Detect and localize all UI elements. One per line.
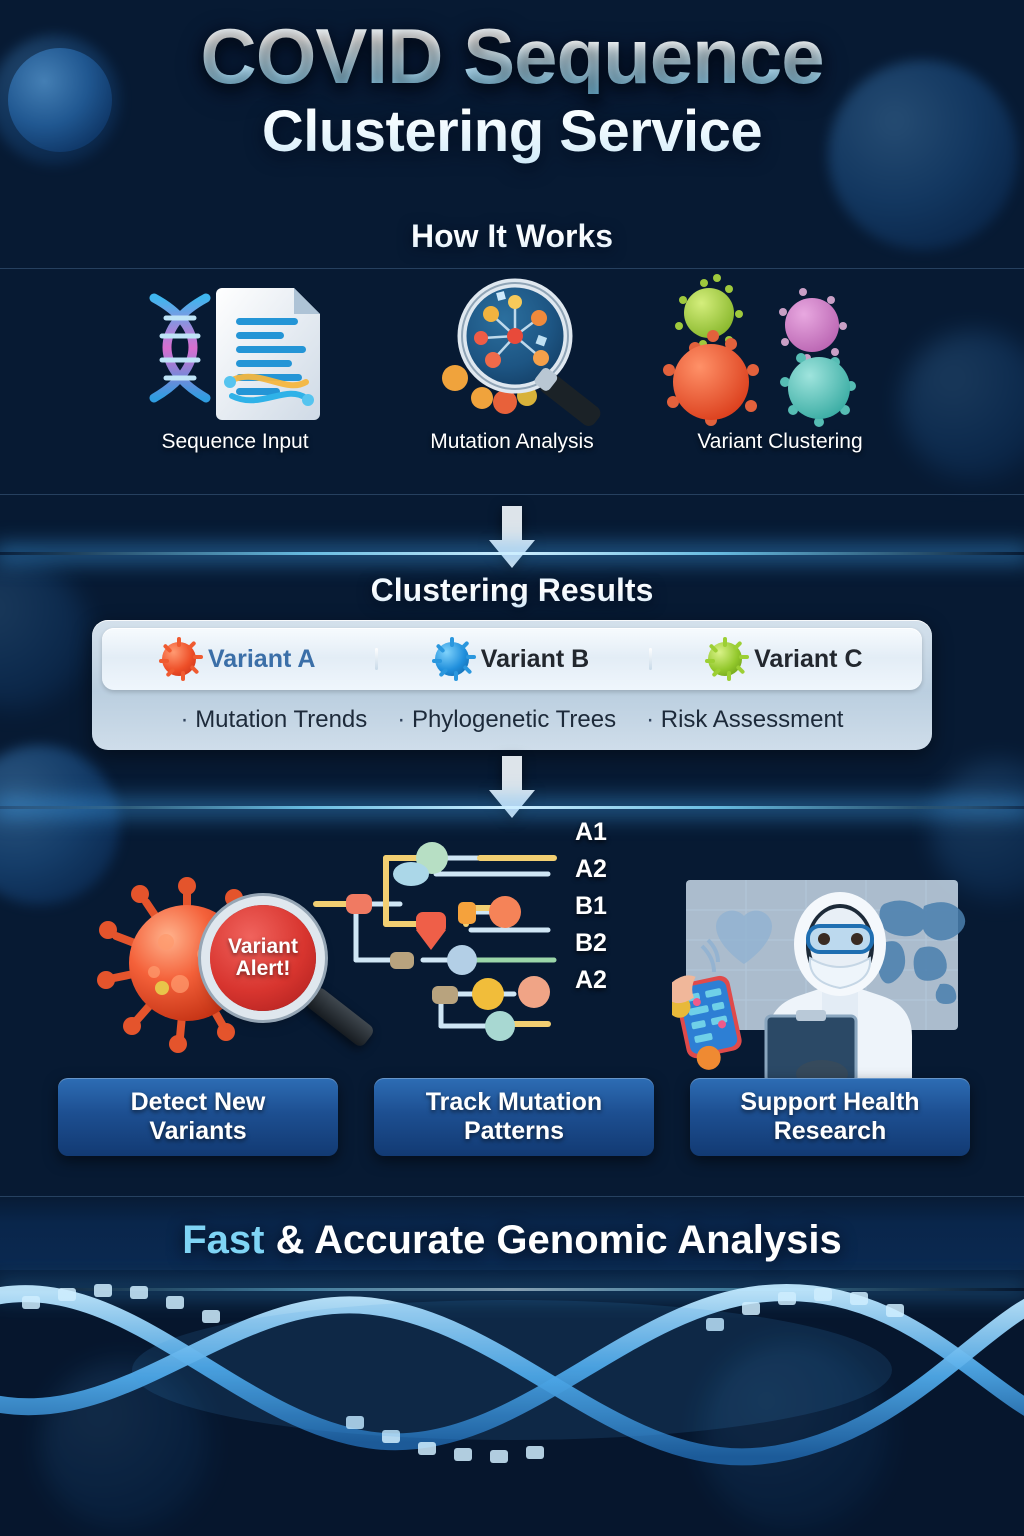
magnifier-molecule-icon (387, 270, 637, 430)
variant-tab-b[interactable]: Variant B (375, 642, 648, 676)
feature-risk-assessment[interactable]: · Risk Assessment (646, 706, 843, 734)
feature-label: Mutation Trends (195, 706, 367, 733)
feature-bullet-row: · Mutation Trends · Phylogenetic Trees ·… (92, 694, 932, 746)
step-label: Variant Clustering (655, 430, 905, 454)
card-line2: Patterns (464, 1117, 564, 1145)
alert-line2: Alert! (236, 958, 291, 980)
benefit-card-detect-new-variants[interactable]: Detect New Variants (58, 1078, 338, 1156)
feature-label: Risk Assessment (661, 706, 844, 733)
step-label: Mutation Analysis (387, 430, 637, 454)
variant-label: Variant B (481, 645, 589, 674)
variant-label: Variant A (208, 645, 315, 674)
benefit-card-track-mutation-patterns[interactable]: Track Mutation Patterns (374, 1078, 654, 1156)
feature-label: Phylogenetic Trees (412, 706, 616, 733)
virus-red-icon (162, 642, 196, 676)
benefit-card-row: Detect New Variants Track Mutation Patte… (58, 1078, 970, 1156)
virus-green-icon (708, 642, 742, 676)
dna-document-icon (110, 270, 360, 430)
page-title: COVID Sequence (0, 18, 1024, 94)
card-line1: Track Mutation (426, 1088, 602, 1116)
section-heading-clustering-results: Clustering Results (0, 572, 1024, 609)
how-it-works-steps: Sequence Input (0, 270, 1024, 500)
bullet-dot-icon: · (397, 706, 405, 733)
card-line2: Variants (149, 1117, 246, 1145)
arrow-down-icon (489, 506, 535, 568)
page-subtitle: Clustering Service (0, 98, 1024, 165)
tree-label: A1 (575, 818, 695, 855)
bullet-dot-icon: · (181, 706, 189, 733)
poster-canvas: COVID Sequence Clustering Service How It… (0, 0, 1024, 1536)
footer-highlight: Fast (182, 1218, 264, 1262)
variant-tab-c[interactable]: Variant C (649, 642, 922, 676)
variant-label: Variant C (754, 645, 862, 674)
step-label: Sequence Input (110, 430, 360, 454)
bullet-dot-icon: · (646, 706, 654, 733)
step-mutation-analysis[interactable]: Mutation Analysis (387, 270, 637, 454)
card-line1: Support Health (740, 1088, 919, 1116)
scientist-ppe-clipboard-icon (672, 866, 972, 1088)
clustering-results-panel: Variant A Variant B (92, 620, 932, 750)
card-line2: Research (774, 1117, 887, 1145)
step-sequence-input[interactable]: Sequence Input (110, 270, 360, 454)
footer-rest: & Accurate Genomic Analysis (265, 1218, 842, 1262)
footer-tagline: Fast & Accurate Genomic Analysis (0, 1218, 1024, 1263)
feature-mutation-trends[interactable]: · Mutation Trends (181, 706, 368, 734)
virus-cluster-icon (655, 270, 905, 430)
poster-title-block: COVID Sequence Clustering Service (0, 18, 1024, 165)
variant-tab-row: Variant A Variant B (102, 628, 922, 690)
feature-phylogenetic-trees[interactable]: · Phylogenetic Trees (397, 706, 616, 734)
card-line1: Detect New (131, 1088, 266, 1116)
section-heading-how-it-works: How It Works (0, 218, 1024, 255)
variant-tab-a[interactable]: Variant A (102, 642, 375, 676)
dna-helix-icon (0, 1270, 1024, 1536)
step-variant-clustering[interactable]: Variant Clustering (655, 270, 905, 454)
benefit-card-support-health-research[interactable]: Support Health Research (690, 1078, 970, 1156)
alert-line1: Variant (228, 936, 298, 958)
virus-blue-icon (435, 642, 469, 676)
alert-lens: Variant Alert! (210, 905, 316, 1011)
